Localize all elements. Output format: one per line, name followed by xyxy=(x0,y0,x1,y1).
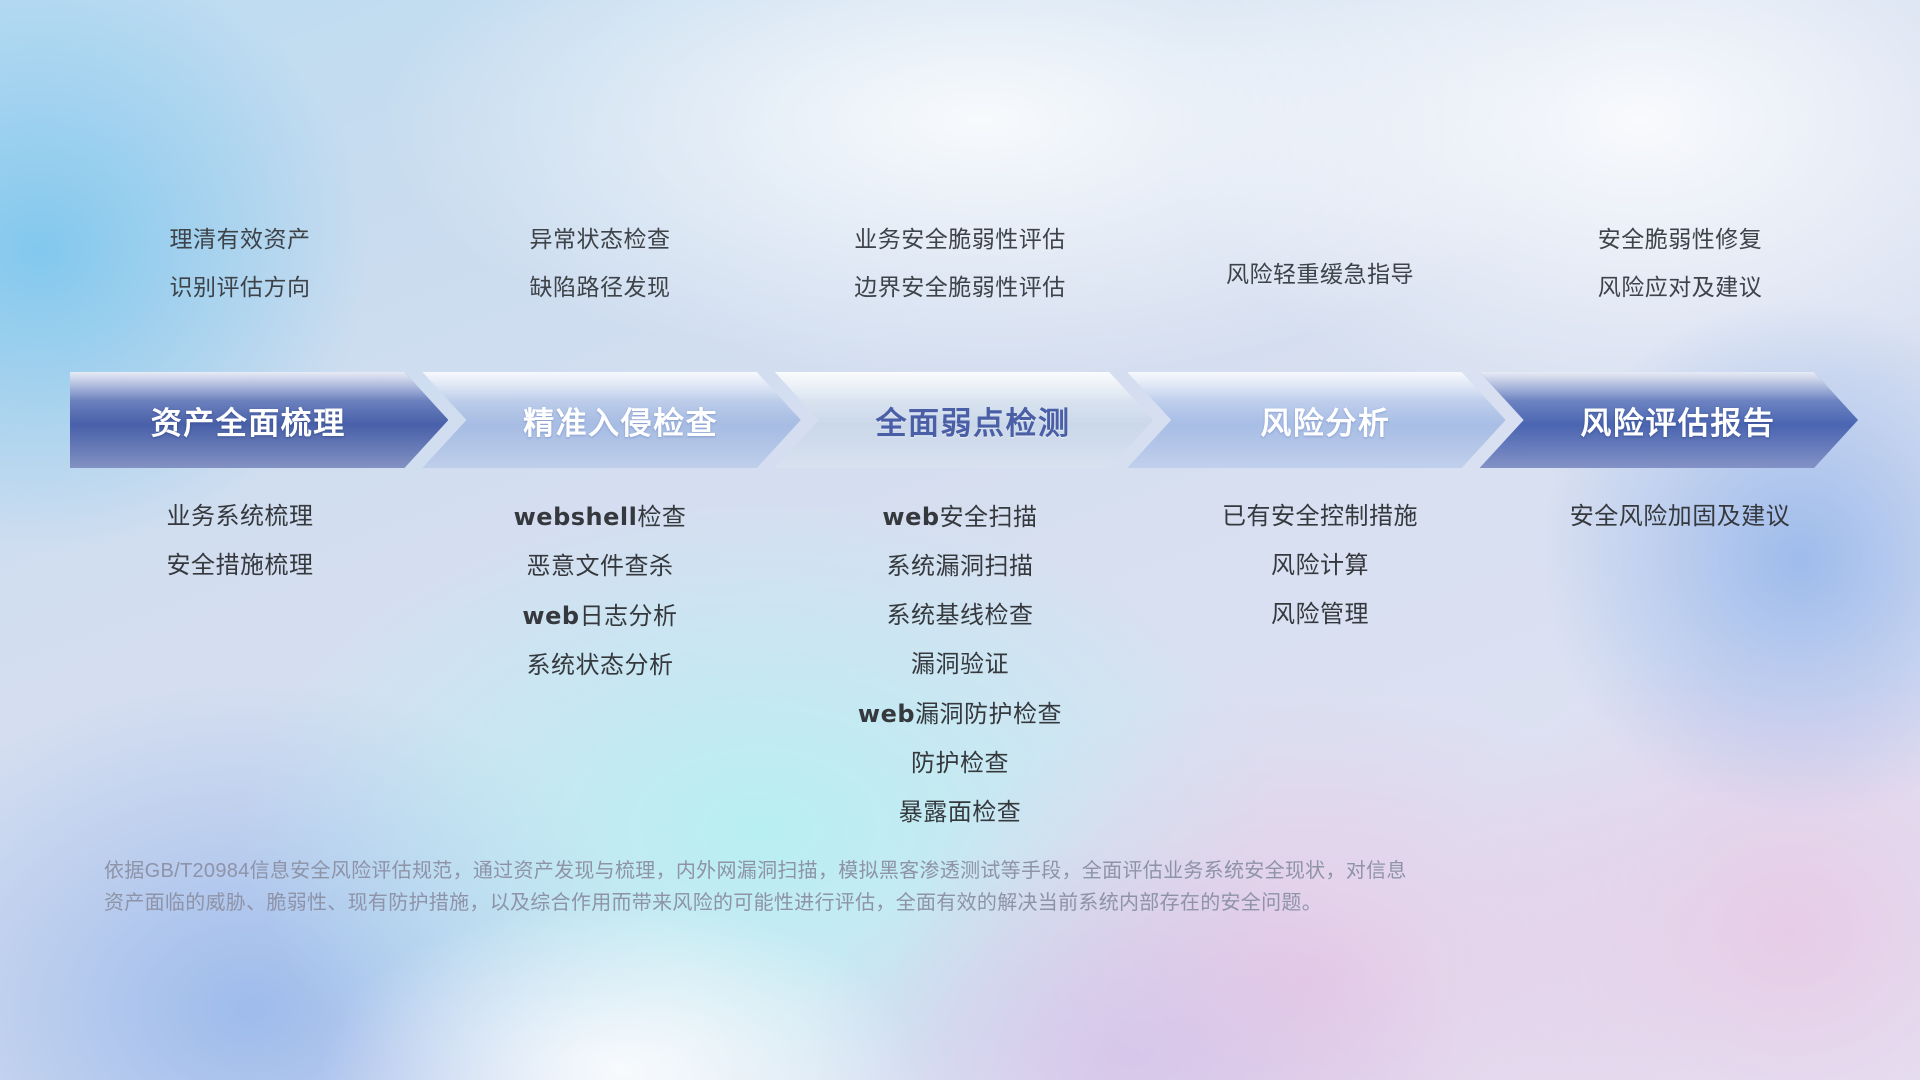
detail-list-item: 风险管理 xyxy=(1271,603,1369,627)
detail-list-item: 恶意文件查杀 xyxy=(527,555,674,579)
detail-list-column: 已有安全控制措施风险计算风险管理 xyxy=(1140,505,1500,627)
detail-list-item: web安全扫描 xyxy=(882,505,1037,530)
process-step-2[interactable]: 精准入侵检查 xyxy=(422,372,800,468)
process-arrow-band: 资产全面梳理精准入侵检查全面弱点检测风险分析风险评估报告 xyxy=(70,372,1858,468)
detail-item-cjk: 漏洞验证 xyxy=(911,651,1009,678)
top-label-text: 业务安全脆弱性评估 xyxy=(854,228,1066,251)
detail-list-item: 安全风险加固及建议 xyxy=(1570,505,1791,529)
detail-list-item: 系统状态分析 xyxy=(527,654,674,678)
detail-item-latin: web xyxy=(858,700,915,728)
detail-list-column: web安全扫描系统漏洞扫描系统基线检查漏洞验证web漏洞防护检查防护检查暴露面检… xyxy=(780,505,1140,825)
bottom-detail-row: 业务系统梳理安全措施梳理webshell检查恶意文件查杀web日志分析系统状态分… xyxy=(60,505,1860,825)
top-label-text: 异常状态检查 xyxy=(530,228,671,251)
top-label-text: 理清有效资产 xyxy=(170,228,311,251)
detail-item-cjk: 暴露面检查 xyxy=(899,799,1022,826)
detail-item-cjk: 检查 xyxy=(637,504,686,531)
detail-list-item: 风险计算 xyxy=(1271,554,1369,578)
detail-item-cjk: 防护检查 xyxy=(911,750,1009,777)
top-label-text: 识别评估方向 xyxy=(170,276,311,299)
detail-item-cjk: 安全风险加固及建议 xyxy=(1570,503,1791,530)
detail-list-item: 已有安全控制措施 xyxy=(1222,505,1418,529)
detail-list-item: 安全措施梳理 xyxy=(167,554,314,578)
top-label-column: 理清有效资产识别评估方向 xyxy=(60,228,420,320)
top-label-column: 异常状态检查缺陷路径发现 xyxy=(420,228,780,320)
top-label-column: 安全脆弱性修复风险应对及建议 xyxy=(1500,228,1860,320)
detail-item-cjk: 系统漏洞扫描 xyxy=(887,553,1034,580)
detail-list-item: 暴露面检查 xyxy=(899,801,1022,825)
top-label-text: 风险轻重缓急指导 xyxy=(1226,263,1414,286)
detail-item-cjk: 系统状态分析 xyxy=(527,652,674,679)
detail-item-cjk: 风险计算 xyxy=(1271,552,1369,579)
detail-list-item: web漏洞防护检查 xyxy=(858,702,1062,727)
detail-item-latin: webshell xyxy=(514,503,638,531)
footer-line-2: 资产面临的威胁、脆弱性、现有防护措施，以及综合作用而带来风险的可能性进行评估，全… xyxy=(104,887,1604,919)
footer-description: 依据GB/T20984信息安全风险评估规范，通过资产发现与梳理，内外网漏洞扫描，… xyxy=(104,855,1604,920)
detail-list-column: 业务系统梳理安全措施梳理 xyxy=(60,505,420,578)
detail-list-item: 业务系统梳理 xyxy=(167,505,314,529)
detail-list-item: 系统基线检查 xyxy=(887,604,1034,628)
detail-list-column: 安全风险加固及建议 xyxy=(1500,505,1860,529)
process-step-1[interactable]: 资产全面梳理 xyxy=(70,372,448,468)
top-label-text: 安全脆弱性修复 xyxy=(1598,228,1763,251)
detail-item-cjk: 安全措施梳理 xyxy=(167,552,314,579)
detail-list-column: webshell检查恶意文件查杀web日志分析系统状态分析 xyxy=(420,505,780,678)
detail-list-item: 漏洞验证 xyxy=(911,653,1009,677)
top-label-column: 业务安全脆弱性评估边界安全脆弱性评估 xyxy=(780,228,1140,320)
process-step-5[interactable]: 风险评估报告 xyxy=(1480,372,1858,468)
detail-list-item: webshell检查 xyxy=(514,505,687,530)
top-label-text: 缺陷路径发现 xyxy=(530,276,671,299)
detail-item-cjk: 系统基线检查 xyxy=(887,602,1034,629)
process-step-label: 资产全面梳理 xyxy=(151,398,368,443)
top-label-text: 风险应对及建议 xyxy=(1598,276,1763,299)
detail-item-cjk: 已有安全控制措施 xyxy=(1222,503,1418,530)
process-step-4[interactable]: 风险分析 xyxy=(1127,372,1505,468)
detail-item-cjk: 恶意文件查杀 xyxy=(527,553,674,580)
detail-item-latin: web xyxy=(882,503,939,531)
detail-item-latin: web xyxy=(522,602,579,630)
infographic-stage: 理清有效资产识别评估方向异常状态检查缺陷路径发现业务安全脆弱性评估边界安全脆弱性… xyxy=(0,0,1920,1080)
top-label-row: 理清有效资产识别评估方向异常状态检查缺陷路径发现业务安全脆弱性评估边界安全脆弱性… xyxy=(60,228,1860,320)
detail-item-cjk: 安全扫描 xyxy=(940,504,1038,531)
detail-list-item: 防护检查 xyxy=(911,752,1009,776)
process-step-label: 全面弱点检测 xyxy=(858,398,1071,443)
process-step-label: 精准入侵检查 xyxy=(505,398,718,443)
process-step-label: 风险分析 xyxy=(1242,398,1390,443)
detail-item-cjk: 日志分析 xyxy=(580,603,678,630)
detail-list-item: 系统漏洞扫描 xyxy=(887,555,1034,579)
process-step-3[interactable]: 全面弱点检测 xyxy=(775,372,1153,468)
detail-item-cjk: 风险管理 xyxy=(1271,601,1369,628)
top-label-text: 边界安全脆弱性评估 xyxy=(854,276,1066,299)
process-step-label: 风险评估报告 xyxy=(1562,398,1775,443)
detail-item-cjk: 业务系统梳理 xyxy=(167,503,314,530)
detail-item-cjk: 漏洞防护检查 xyxy=(915,701,1062,728)
detail-list-item: web日志分析 xyxy=(522,604,677,629)
top-label-column: 风险轻重缓急指导 xyxy=(1140,228,1500,320)
footer-line-1: 依据GB/T20984信息安全风险评估规范，通过资产发现与梳理，内外网漏洞扫描，… xyxy=(104,855,1604,887)
